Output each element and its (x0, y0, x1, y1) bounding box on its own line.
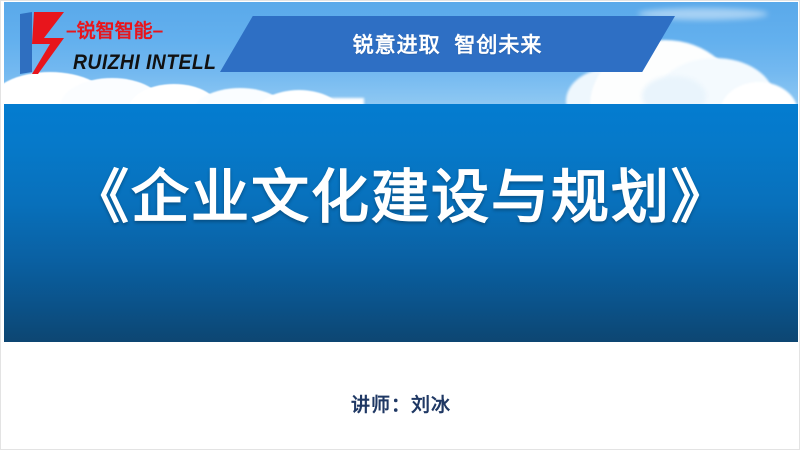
logo-chinese-text: 锐智智能 (77, 21, 153, 42)
slide-title: 《企业文化建设与规划》 (4, 166, 798, 230)
cloud-icon (256, 90, 342, 104)
logo-dash-left: – (66, 21, 77, 42)
presentation-slide: 锐意进取 智创未来 –锐智智能– RUIZHI INTELL 《企业文化建设与规… (0, 0, 800, 450)
footer-panel: 讲师：刘冰 (4, 342, 798, 449)
slogan-text: 锐意进取 智创未来 (353, 29, 543, 59)
ruizhi-r-monogram-icon (18, 10, 70, 76)
company-logo: –锐智智能– RUIZHI INTELL (18, 8, 208, 80)
slide-frame: 锐意进取 智创未来 –锐智智能– RUIZHI INTELL 《企业文化建设与规… (4, 2, 798, 449)
slogan-banner: 锐意进取 智创未来 (220, 16, 675, 72)
logo-dash-right: – (153, 21, 164, 42)
logo-chinese-name: –锐智智能– (66, 22, 163, 41)
sky-header-band: 锐意进取 智创未来 –锐智智能– RUIZHI INTELL (4, 2, 798, 104)
presenter-name: 讲师：刘冰 (4, 390, 798, 417)
logo-english-name: RUIZHI INTELL (73, 52, 216, 73)
